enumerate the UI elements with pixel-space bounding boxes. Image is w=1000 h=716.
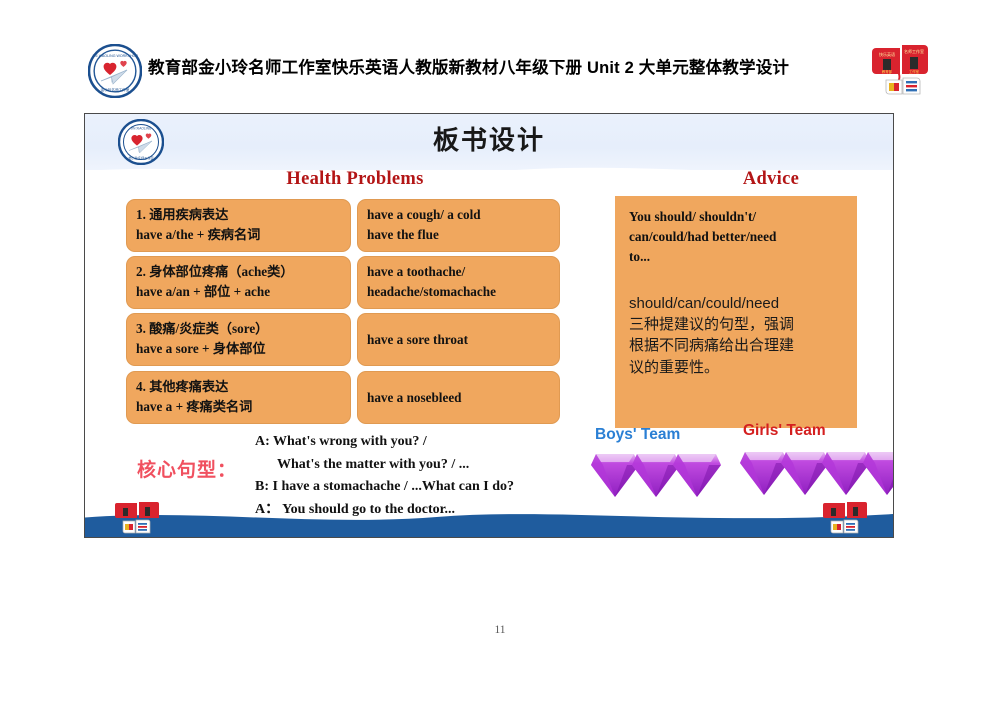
svg-text:JIN XIAOLING WORKSHOP: JIN XIAOLING WORKSHOP: [92, 54, 138, 58]
slide-title: 板书设计: [85, 120, 893, 157]
workshop-seal-logo: JIN XIAOLING 金小玲名师工作室: [118, 119, 164, 165]
advice-formula-line: can/could/had better/need: [629, 227, 845, 247]
svg-text:金小玲名师工作室: 金小玲名师工作室: [128, 156, 154, 161]
girls-team-gem-row: [740, 447, 894, 497]
pattern-cn-text: 2. 身体部位疼痛（ache类）: [136, 262, 341, 282]
problem-pattern-card: 3. 酸痛/炎症类（sore） have a sore + 身体部位: [126, 313, 351, 366]
svg-text:名师工作室: 名师工作室: [904, 48, 924, 54]
page-number: 11: [0, 624, 1000, 636]
pattern-cn-text: 4. 其他疼痛表达: [136, 377, 341, 397]
pattern-en-text: have a + 疼痛类名词: [136, 397, 341, 417]
advice-note-line: 议的重要性。: [629, 357, 845, 378]
key-sentence-line: B: I have a stomachache / ...What can I …: [255, 476, 600, 499]
example-line: have a sore throat: [367, 330, 468, 350]
pattern-en-text: have a/the + 疾病名词: [136, 225, 341, 245]
advice-note-line: 三种提建议的句型，强调: [629, 314, 845, 335]
problem-example-card: have a cough/ a cold have the flue: [357, 199, 560, 252]
diamond-icon: [863, 447, 894, 497]
boys-team-label: Boys' Team: [595, 426, 680, 444]
example-line: have a toothache/: [367, 262, 550, 282]
example-line: have a nosebleed: [367, 388, 462, 408]
key-sentence-label: 核心句型：: [137, 455, 237, 482]
pattern-cn-text: 3. 酸痛/炎症类（sore）: [136, 319, 341, 339]
pattern-en-text: have a sore + 身体部位: [136, 339, 341, 359]
section-heading-health-problems: Health Problems: [265, 169, 445, 190]
svg-text:JIN XIAOLING: JIN XIAOLING: [131, 127, 152, 131]
svg-text:教育部: 教育部: [882, 69, 893, 74]
problem-pattern-card: 4. 其他疼痛表达 have a + 疼痛类名词: [126, 371, 351, 424]
pattern-cn-text: 1. 通用疾病表达: [136, 205, 341, 225]
girls-team-label: Girls' Team: [743, 422, 826, 440]
diamond-icon: [673, 449, 721, 499]
slide-canvas: JIN XIAOLING 金小玲名师工作室 板书设计 Health Proble…: [84, 113, 894, 538]
section-heading-advice: Advice: [681, 169, 861, 190]
advice-formula-block: You should/ shouldn't/ can/could/had bet…: [629, 207, 845, 267]
advice-formula-line: You should/ shouldn't/: [629, 207, 845, 227]
example-line: have the flue: [367, 225, 550, 245]
footer-wave-shape: [84, 503, 894, 538]
svg-text:工作室: 工作室: [909, 69, 920, 74]
publisher-badge-logo: [823, 501, 871, 535]
banner-wave-shape: [85, 156, 893, 170]
key-sentence-line: What's the matter with you? / ...: [255, 454, 600, 477]
problem-example-card: have a sore throat: [357, 313, 560, 366]
key-sentence-line: A: What's wrong with you? /: [255, 431, 600, 454]
problem-example-card: have a nosebleed: [357, 371, 560, 424]
page-title: 教育部金小玲名师工作室快乐英语人教版新教材八年级下册 Unit 2 大单元整体教…: [148, 54, 848, 78]
document-header: JIN XIAOLING WORKSHOP 金小玲名师工作室 教育部金小玲名师工…: [0, 36, 1000, 108]
advice-note-line: 根据不同病痛给出合理建: [629, 335, 845, 356]
advice-panel: You should/ shouldn't/ can/could/had bet…: [615, 196, 857, 428]
svg-text:金小玲名师工作室: 金小玲名师工作室: [101, 87, 130, 92]
problem-pattern-card: 1. 通用疾病表达 have a/the + 疾病名词: [126, 199, 351, 252]
problem-pattern-card: 2. 身体部位疼痛（ache类） have a/an + 部位 + ache: [126, 256, 351, 309]
advice-note-line: should/can/could/need: [629, 293, 845, 314]
pattern-en-text: have a/an + 部位 + ache: [136, 282, 341, 302]
example-line: have a cough/ a cold: [367, 205, 550, 225]
svg-text:快乐英语: 快乐英语: [879, 51, 895, 57]
problem-example-card: have a toothache/ headache/stomachache: [357, 256, 560, 309]
publisher-badge-logo: 快乐英语 名师工作室 教育部 工作室: [872, 42, 932, 100]
advice-note-block: should/can/could/need 三种提建议的句型，强调 根据不同病痛…: [629, 293, 845, 378]
boys-team-gem-row: [591, 449, 714, 499]
example-line: headache/stomachache: [367, 282, 550, 302]
advice-formula-line: to...: [629, 247, 845, 267]
workshop-seal-logo: JIN XIAOLING WORKSHOP 金小玲名师工作室: [88, 44, 142, 98]
publisher-badge-logo: [115, 501, 163, 535]
